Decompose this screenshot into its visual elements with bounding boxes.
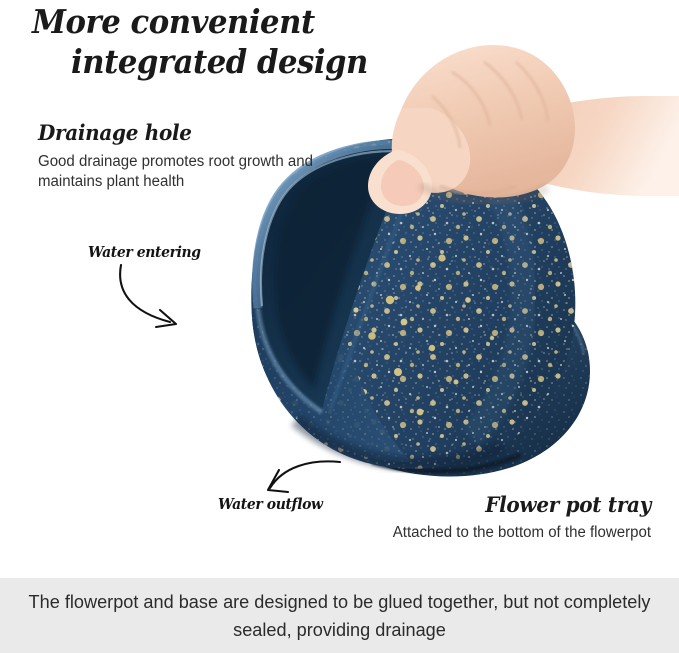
callout-tray-title: Flower pot tray [328, 492, 651, 518]
page-title: More convenient integrated design [32, 2, 432, 82]
callout-drainage-hole: Drainage hole Good drainage promotes roo… [38, 120, 338, 192]
annotation-water-entering: Water entering [88, 243, 201, 261]
product-photo [0, 0, 679, 653]
callout-drainage-title: Drainage hole [38, 120, 323, 146]
callout-tray-body: Attached to the bottom of the flowerpot [321, 523, 651, 543]
bottom-banner-text: The flowerpot and base are designed to b… [7, 588, 672, 644]
product-infographic-page: More convenient integrated design Draina… [0, 0, 679, 653]
callout-flower-pot-tray: Flower pot tray Attached to the bottom o… [311, 492, 651, 543]
callout-drainage-body: Good drainage promotes root growth and m… [38, 152, 329, 192]
bottom-banner: The flowerpot and base are designed to b… [0, 578, 679, 653]
annotation-water-outflow: Water outflow [218, 495, 323, 513]
headline-line-1: More convenient [32, 2, 315, 41]
headline-line-2: integrated design [32, 42, 432, 82]
